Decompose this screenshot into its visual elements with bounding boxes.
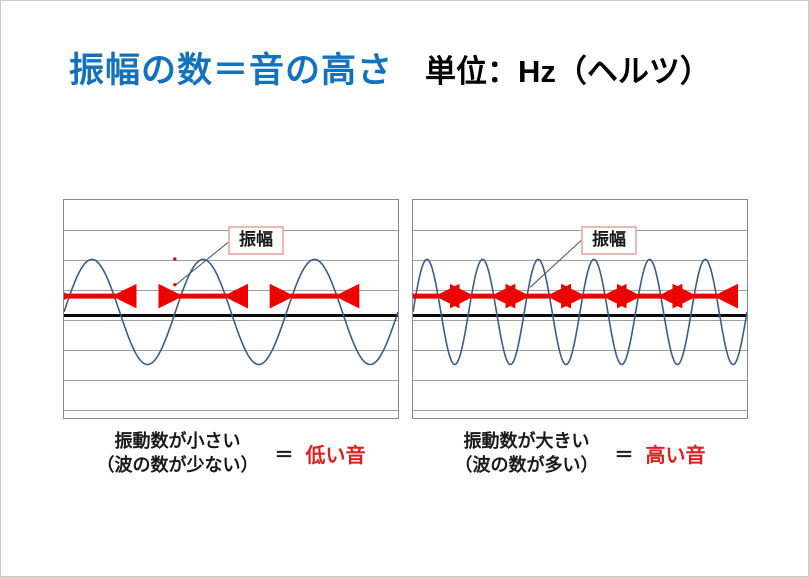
caption-right-line1: 振動数が大きい [454,429,598,453]
title-main-text: 振幅の数＝音の高さ [69,53,393,88]
caption-right-equals: ＝ [614,440,633,467]
caption-right-result: 高い音 [646,439,706,468]
callout-leader-line-right [413,200,747,418]
slide-canvas: 振幅の数＝音の高さ 単位：Hz（ヘルツ） 振幅 [0,0,809,577]
caption-left-line1: 振動数が小さい [96,429,258,453]
wave-panel-high-frequency: 振幅 [412,199,748,419]
caption-left-line2: （波の数が少ない） [96,453,258,477]
caption-text-left: 振動数が小さい （波の数が少ない） [96,429,258,478]
caption-left-equals: ＝ [274,440,293,467]
caption-text-right: 振動数が大きい （波の数が多い） [454,429,598,478]
wave-panel-low-frequency: 振幅 [63,199,399,419]
title-unit-text: 単位：Hz（ヘルツ） [425,56,711,87]
caption-low-frequency: 振動数が小さい （波の数が少ない） ＝ 低い音 [63,429,399,478]
amplitude-callout-right: 振幅 [581,226,637,255]
caption-right-line2: （波の数が多い） [454,453,598,477]
amplitude-callout-left: 振幅 [228,226,284,255]
page-title: 振幅の数＝音の高さ 単位：Hz（ヘルツ） [69,53,711,88]
caption-left-result: 低い音 [306,439,366,468]
caption-high-frequency: 振動数が大きい （波の数が多い） ＝ 高い音 [412,429,748,478]
